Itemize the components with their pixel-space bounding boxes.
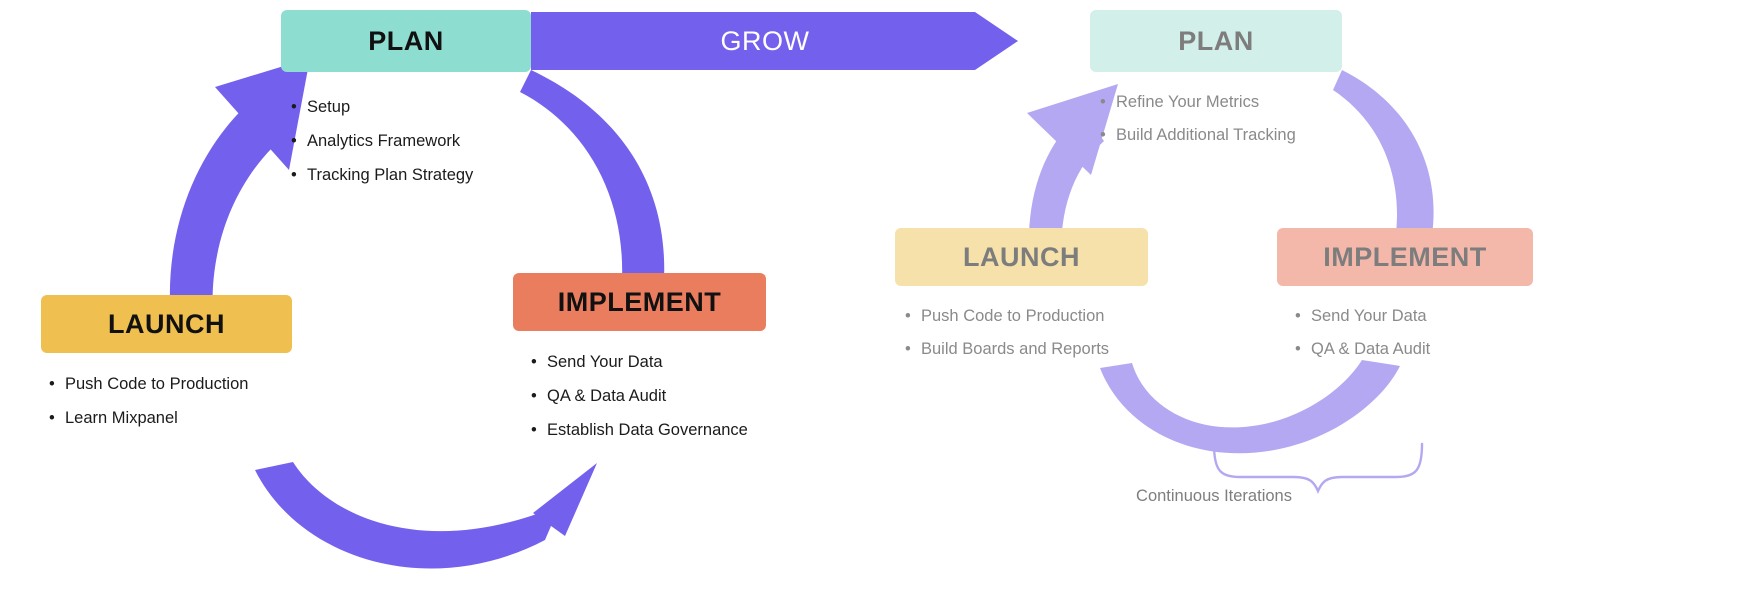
list-item-label: Setup: [307, 90, 350, 124]
list-item: • Push Code to Production: [49, 367, 292, 401]
launch-initial-title: LAUNCH: [41, 295, 292, 353]
bullet-icon: •: [531, 379, 547, 413]
node-launch-grow[interactable]: LAUNCH • Push Code to Production • Build…: [895, 228, 1148, 366]
list-item-label: Push Code to Production: [65, 367, 248, 401]
bullet-icon: •: [1295, 333, 1311, 366]
list-item-label: Analytics Framework: [307, 124, 460, 158]
bullet-icon: •: [291, 158, 307, 192]
list-item: • Tracking Plan Strategy: [291, 158, 531, 192]
list-item: • Analytics Framework: [291, 124, 531, 158]
implement-initial-list: • Send Your Data • QA & Data Audit • Est…: [513, 345, 766, 447]
list-item-label: Refine Your Metrics: [1116, 86, 1259, 119]
list-item-label: Build Additional Tracking: [1116, 119, 1296, 152]
continuous-iterations-brace: [1214, 444, 1422, 491]
implement-initial-title: IMPLEMENT: [513, 273, 766, 331]
list-item-label: Send Your Data: [1311, 300, 1427, 333]
list-item-label: QA & Data Audit: [1311, 333, 1430, 366]
arc-plan-to-implement: [520, 70, 664, 280]
arrowhead-implement-to-launch: [533, 463, 597, 536]
list-item: • Push Code to Production: [905, 300, 1148, 333]
plan-initial-title: PLAN: [281, 10, 531, 72]
bullet-icon: •: [1295, 300, 1311, 333]
node-implement-initial[interactable]: IMPLEMENT • Send Your Data • QA & Data A…: [513, 273, 766, 447]
diagram-canvas: GROW PLAN • Setup • Analytics Framework …: [0, 0, 1740, 589]
list-item: • Build Additional Tracking: [1100, 119, 1342, 152]
continuous-iterations-label: Continuous Iterations: [1122, 487, 1306, 506]
bullet-icon: •: [1100, 86, 1116, 119]
bullet-icon: •: [531, 345, 547, 379]
bullet-icon: •: [905, 333, 921, 366]
list-item: • Setup: [291, 90, 531, 124]
list-item: • Send Your Data: [531, 345, 766, 379]
plan-grow-title: PLAN: [1090, 10, 1342, 72]
node-plan-initial[interactable]: PLAN • Setup • Analytics Framework • Tra…: [281, 10, 531, 192]
implement-grow-title: IMPLEMENT: [1277, 228, 1533, 286]
list-item: • Establish Data Governance: [531, 413, 766, 447]
list-item-label: Build Boards and Reports: [921, 333, 1109, 366]
node-launch-initial[interactable]: LAUNCH • Push Code to Production • Learn…: [41, 295, 292, 435]
plan-grow-list: • Refine Your Metrics • Build Additional…: [1090, 86, 1342, 152]
launch-grow-list: • Push Code to Production • Build Boards…: [895, 300, 1148, 366]
list-item-label: Learn Mixpanel: [65, 401, 178, 435]
node-implement-grow[interactable]: IMPLEMENT • Send Your Data • QA & Data A…: [1277, 228, 1533, 366]
bullet-icon: •: [49, 401, 65, 435]
grow-banner-label: GROW: [530, 12, 1000, 70]
list-item: • QA & Data Audit: [1295, 333, 1533, 366]
list-item-label: QA & Data Audit: [547, 379, 666, 413]
list-item-label: Send Your Data: [547, 345, 663, 379]
bullet-icon: •: [1100, 119, 1116, 152]
arc-plan-to-implement-grow: [1333, 70, 1434, 235]
launch-grow-title: LAUNCH: [895, 228, 1148, 286]
list-item-label: Push Code to Production: [921, 300, 1104, 333]
bullet-icon: •: [291, 90, 307, 124]
plan-initial-list: • Setup • Analytics Framework • Tracking…: [281, 90, 531, 192]
list-item-label: Establish Data Governance: [547, 413, 748, 447]
list-item: • Build Boards and Reports: [905, 333, 1148, 366]
list-item: • QA & Data Audit: [531, 379, 766, 413]
bullet-icon: •: [905, 300, 921, 333]
node-plan-grow[interactable]: PLAN • Refine Your Metrics • Build Addit…: [1090, 10, 1342, 152]
list-item: • Refine Your Metrics: [1100, 86, 1342, 119]
list-item-label: Tracking Plan Strategy: [307, 158, 473, 192]
arc-implement-to-launch-grow: [1100, 360, 1400, 453]
list-item: • Learn Mixpanel: [49, 401, 292, 435]
list-item: • Send Your Data: [1295, 300, 1533, 333]
launch-initial-list: • Push Code to Production • Learn Mixpan…: [41, 367, 292, 435]
bullet-icon: •: [49, 367, 65, 401]
implement-grow-list: • Send Your Data • QA & Data Audit: [1277, 300, 1533, 366]
bullet-icon: •: [291, 124, 307, 158]
bullet-icon: •: [531, 413, 547, 447]
arc-implement-to-launch: [255, 462, 560, 569]
